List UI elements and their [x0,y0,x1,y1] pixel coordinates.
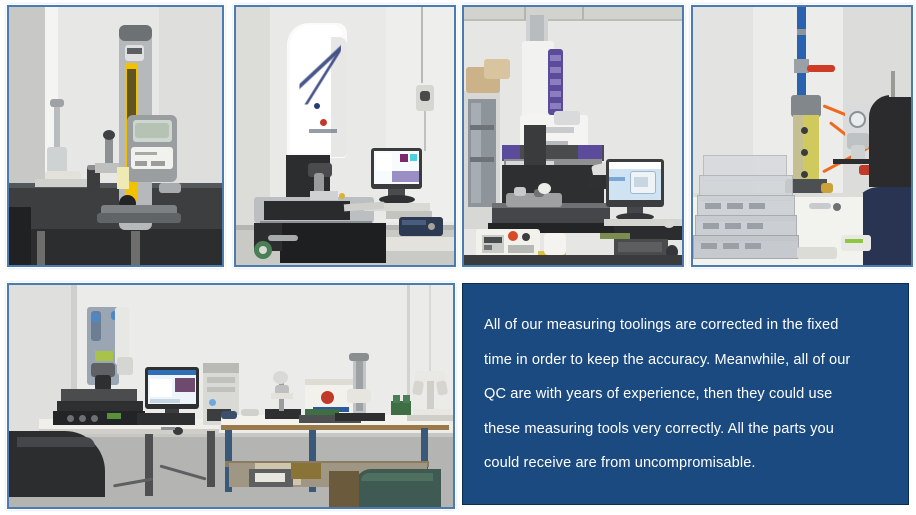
photo-panel-2[interactable] [234,5,456,267]
photo-panel-5[interactable] [7,283,455,509]
panel-1-image [9,7,222,265]
panel-5-image [9,285,453,507]
qc-description-panel: All of our measuring toolings are correc… [462,283,909,505]
photo-panel-4[interactable] [691,5,913,267]
qc-description-text: All of our measuring toolings are correc… [484,308,868,481]
panel-4-image [693,7,911,265]
panel-3-image [464,7,682,265]
photo-panel-3[interactable] [462,5,684,267]
photo-panel-1[interactable] [7,5,224,267]
gallery-stage: All of our measuring toolings are correc… [0,0,916,515]
panel-2-image [236,7,454,265]
qc-description-inner: All of our measuring toolings are correc… [484,308,868,481]
